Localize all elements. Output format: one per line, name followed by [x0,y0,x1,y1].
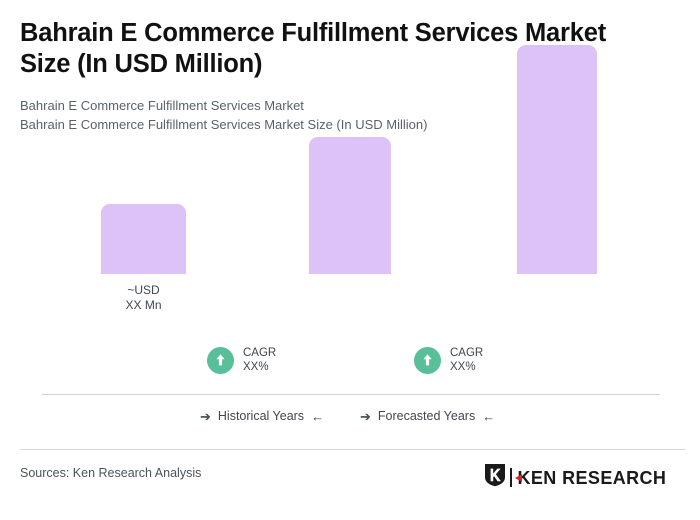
bar-value-label-1-line1: ~USD [101,283,186,298]
period-label-forecasted: ➔ Forecasted Years ← [360,409,495,423]
arrow-left-icon: ← [482,410,495,423]
period-labels-row: ➔ Historical Years ← ➔ Forecasted Years … [42,409,660,429]
bar-forecast[interactable] [517,45,597,274]
logo-wordmark-text: KEN RESEARCH [518,468,667,488]
cagr-badge-2-text: CAGR XX% [450,346,483,374]
arrow-right-icon: ➔ [200,410,211,423]
cagr-badge-2-value: XX% [450,361,476,373]
chart-plot-area: ~USD XX Mn CAGR XX% ~USD 130 Mn [0,0,700,400]
cagr-badge-2-label: CAGR [450,347,483,359]
sources-text: Sources: Ken Research Analysis [20,466,201,480]
axis-baseline [42,394,660,395]
cagr-badge-2[interactable]: CAGR XX% [414,346,483,374]
arrow-up-icon [414,347,441,374]
shield-k-icon [484,463,506,492]
chart-page: Bahrain E Commerce Fulfillment Services … [0,0,700,520]
bar-value-label-1-line2: XX Mn [101,298,186,313]
logo-wordmark: KEN RESEARCH [516,469,667,487]
period-label-historical-text: Historical Years [218,409,304,423]
arrow-right-icon: ➔ [360,410,371,423]
logo-divider [510,468,512,487]
red-triangle-icon [515,474,522,482]
footer-divider [20,449,685,450]
cagr-badge-1-value: XX% [243,361,269,373]
arrow-left-icon: ← [311,410,324,423]
bar-historical[interactable] [101,204,186,274]
bar-base[interactable] [309,137,391,274]
bar-value-label-1: ~USD XX Mn [101,283,186,312]
period-label-forecasted-text: Forecasted Years [378,409,475,423]
period-label-historical: ➔ Historical Years ← [200,409,324,423]
arrow-up-icon [207,347,234,374]
ken-research-logo: KEN RESEARCH [484,463,666,492]
cagr-badge-1[interactable]: CAGR XX% [207,346,276,374]
cagr-badge-1-label: CAGR [243,347,276,359]
cagr-badge-1-text: CAGR XX% [243,346,276,374]
